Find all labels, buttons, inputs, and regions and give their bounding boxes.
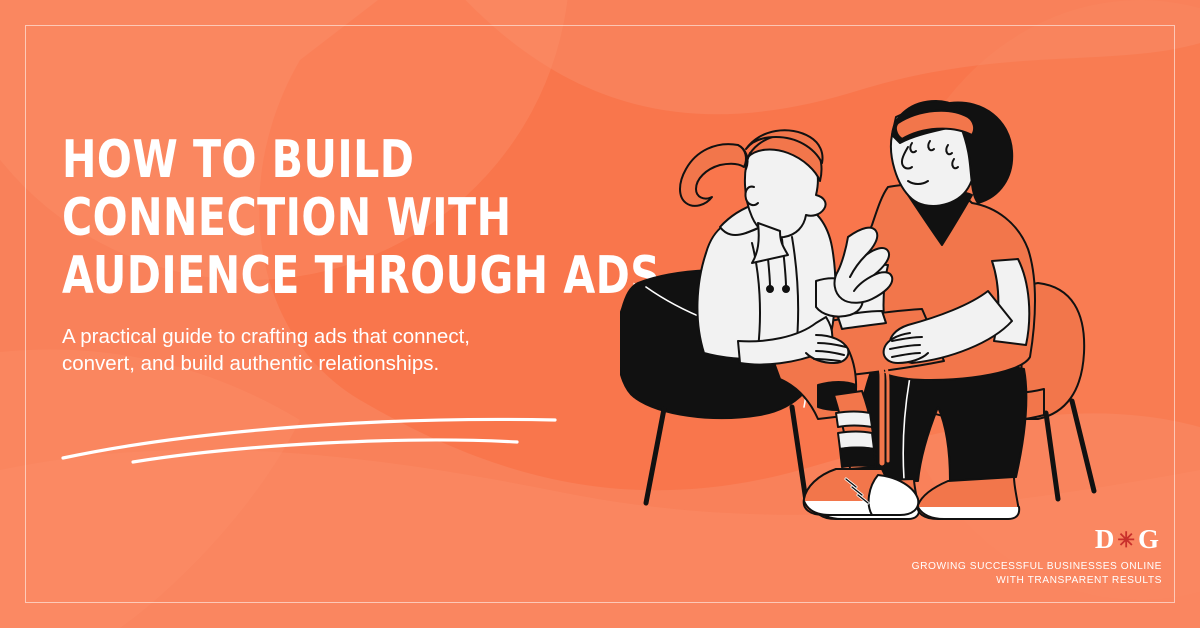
asterisk-icon: ✳ <box>1117 528 1138 552</box>
logo-wordmark: D✳G <box>912 524 1162 555</box>
logo-letter-d: D <box>1095 524 1118 554</box>
logo-lockup: D✳G GROWING SUCCESSFUL BUSINESSES ONLINE… <box>912 524 1162 588</box>
illustration-two-women-seated-conversation <box>620 95 1160 535</box>
tagline-line-2: WITH TRANSPARENT RESULTS <box>912 574 1162 588</box>
subtitle-text: A practical guide to crafting ads that c… <box>62 323 532 377</box>
swoosh-decoration <box>55 398 575 488</box>
ad-banner: HOW TO BUILD CONNECTION WITH AUDIENCE TH… <box>0 0 1200 628</box>
headline-line-3: AUDIENCE THROUGH ADS <box>62 247 555 305</box>
copy-block: HOW TO BUILD CONNECTION WITH AUDIENCE TH… <box>62 131 622 377</box>
logo-letter-g: G <box>1138 524 1162 554</box>
tagline-line-1: GROWING SUCCESSFUL BUSINESSES ONLINE <box>912 560 1162 574</box>
headline-line-2: CONNECTION WITH <box>62 189 555 247</box>
logo-tagline: GROWING SUCCESSFUL BUSINESSES ONLINE WIT… <box>912 560 1162 588</box>
headline-line-1: HOW TO BUILD <box>62 131 555 189</box>
